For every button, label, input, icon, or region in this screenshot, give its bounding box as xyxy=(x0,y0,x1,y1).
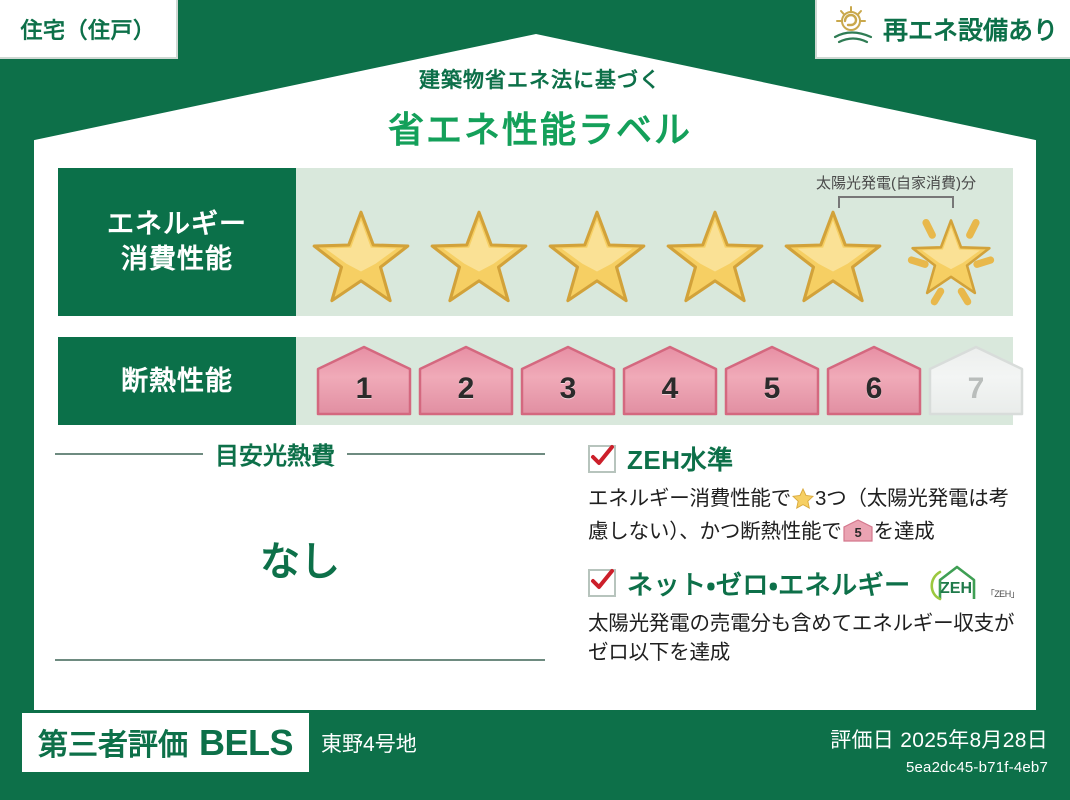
bels-footer: 第三者評価 BELS 東野4号地 xyxy=(22,713,417,772)
heading-rule-left xyxy=(55,453,203,455)
utility-cost-value: なし xyxy=(55,529,545,587)
bels-en-label: BELS xyxy=(199,722,293,764)
solar-annotation-text: 太陽光発電(自家消費)分 xyxy=(787,172,1005,193)
insulation-grade-on: 6 xyxy=(824,344,924,418)
renewable-energy-badge: 再エネ設備あり xyxy=(815,0,1070,59)
svg-text:5: 5 xyxy=(854,525,861,540)
utility-cost-bottom-rule xyxy=(55,659,545,661)
utility-cost-heading: 目安光熱費 xyxy=(55,436,545,471)
star-solar xyxy=(896,206,1006,310)
insulation-performance-value-box: 1 2 xyxy=(296,337,1013,425)
bels-jp-label: 第三者評価 xyxy=(38,720,188,764)
zeh-standard-title: ZEH水準 xyxy=(627,440,734,477)
star-filled xyxy=(778,206,888,310)
evaluation-id: 5ea2dc45-b71f-4eb7 xyxy=(830,759,1048,776)
net-zero-title: ネット・ゼロ・エネルギー xyxy=(627,565,911,602)
svg-text:ZEH: ZEH xyxy=(940,580,972,597)
energy-label-line2: 消費性能 xyxy=(121,242,233,277)
star-rating xyxy=(306,204,1006,312)
star-filled xyxy=(424,206,534,310)
zeh-house-logo: ZEH 「ZEH」 xyxy=(926,564,1020,602)
star-filled xyxy=(542,206,652,310)
energy-performance-label-box: エネルギー 消費性能 xyxy=(58,168,296,316)
zeh-standard-checkbox[interactable] xyxy=(588,445,616,473)
zeh-standard-body-part3: を達成 xyxy=(874,520,935,543)
evaluation-date: 評価日 2025年8月28日 xyxy=(830,724,1048,754)
insulation-grade-on: 2 xyxy=(416,344,516,418)
zeh-standard-body-part1: エネルギー消費性能で xyxy=(588,487,791,510)
evaluation-info: 評価日 2025年8月28日 5ea2dc45-b71f-4eb7 xyxy=(830,724,1048,776)
claim-net-zero-energy: ネット・ゼロ・エネルギー ZEH 「ZEH」 太陽光発電の売電分も含めてエネルギ… xyxy=(588,564,1018,667)
heading-rule-right xyxy=(347,453,545,455)
zeh-logo-subtext: 「ZEH」 xyxy=(986,587,1020,602)
insulation-grade-off: 7 xyxy=(926,344,1026,418)
label-title: 建築物省エネ法に基づく 省エネ性能ラベル xyxy=(0,64,1070,153)
insulation-grade-number: 2 xyxy=(416,372,516,406)
insulation-performance-label-box: 断熱性能 xyxy=(58,337,296,425)
zeh-claims-section: ZEH水準 エネルギー消費性能で3つ（太陽光発電は考慮しない）、かつ断熱性能で5… xyxy=(588,440,1018,681)
energy-performance-value-box: 太陽光発電(自家消費)分 xyxy=(296,168,1013,316)
insulation-performance-row: 断熱性能 1 xyxy=(58,337,1013,425)
building-type-label: 住宅（住戸） xyxy=(20,13,155,45)
building-type-badge: 住宅（住戸） xyxy=(0,0,178,59)
solar-annotation: 太陽光発電(自家消費)分 xyxy=(787,172,1005,208)
insulation-grade-number: 5 xyxy=(722,372,822,406)
insulation-grade-on: 1 xyxy=(314,344,414,418)
energy-label-line1: エネルギー xyxy=(107,207,247,242)
title-subtitle: 建築物省エネ法に基づく xyxy=(10,64,1070,94)
insulation-grade-on: 5 xyxy=(722,344,822,418)
insulation-grade-number: 6 xyxy=(824,372,924,406)
utility-cost-heading-text: 目安光熱費 xyxy=(215,436,335,471)
renewable-energy-label: 再エネ設備あり xyxy=(883,11,1058,47)
star-filled xyxy=(306,206,416,310)
energy-performance-label: 住宅（住戸） 再エネ設備あり 建築物省エネ法に基づく 省エネ性能ラベル エネルギ… xyxy=(0,0,1070,800)
bels-logo-box: 第三者評価 BELS xyxy=(22,713,309,772)
title-main: 省エネ性能ラベル xyxy=(10,101,1070,153)
insulation-grade-number: 1 xyxy=(314,372,414,406)
claim-zeh-standard-head: ZEH水準 xyxy=(588,440,1018,477)
star-icon xyxy=(792,488,814,517)
insulation-grade-number: 7 xyxy=(926,372,1026,406)
insulation-grade-number: 3 xyxy=(518,372,618,406)
utility-cost-section: 目安光熱費 なし xyxy=(55,436,545,661)
solar-sun-icon xyxy=(831,5,875,52)
insulation-grade-scale: 1 2 xyxy=(314,344,1026,418)
insulation-label: 断熱性能 xyxy=(121,364,233,399)
insulation-grade-on: 4 xyxy=(620,344,720,418)
claim-zeh-standard: ZEH水準 エネルギー消費性能で3つ（太陽光発電は考慮しない）、かつ断熱性能で5… xyxy=(588,440,1018,550)
house-grade-5-icon: 5 xyxy=(843,519,873,550)
energy-performance-row: エネルギー 消費性能 太陽光発電(自家消費)分 xyxy=(58,168,1013,316)
insulation-grade-number: 4 xyxy=(620,372,720,406)
net-zero-body: 太陽光発電の売電分も含めてエネルギー収支がゼロ以下を達成 xyxy=(588,609,1018,667)
claim-net-zero-head: ネット・ゼロ・エネルギー ZEH 「ZEH」 xyxy=(588,564,1018,602)
net-zero-checkbox[interactable] xyxy=(588,569,616,597)
insulation-grade-on: 3 xyxy=(518,344,618,418)
zeh-standard-body: エネルギー消費性能で3つ（太陽光発電は考慮しない）、かつ断熱性能で5を達成 xyxy=(588,484,1018,550)
star-filled xyxy=(660,206,770,310)
site-name: 東野4号地 xyxy=(321,728,417,758)
